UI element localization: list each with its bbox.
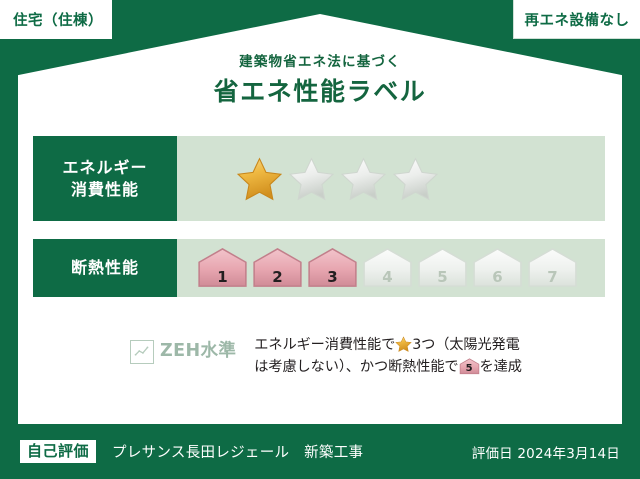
insulation-level-number: 1 (196, 270, 249, 285)
inline-house-number: 5 (459, 364, 480, 374)
insulation-performance-row: 断熱性能 1 (33, 239, 605, 297)
energy-label-line2: 消費性能 (62, 179, 147, 201)
insulation-level-chip-5: 5 (416, 247, 469, 289)
insulation-level-number: 7 (526, 270, 579, 285)
evaluation-date: 評価日 2024年3月14日 (472, 442, 620, 462)
energy-label-line1: エネルギー (62, 157, 147, 179)
inline-house-badge: 5 (459, 358, 480, 375)
insulation-performance-label: 断熱性能 (33, 239, 177, 297)
inline-star-icon (395, 336, 412, 352)
insulation-level-chip-3: 3 (306, 247, 359, 289)
zeh-label: ZEH水準 (160, 343, 236, 361)
building-name: プレサンス長田レジェール 新築工事 (112, 441, 363, 462)
insulation-level-chip-4: 4 (361, 247, 414, 289)
insulation-level-number: 5 (416, 270, 469, 285)
star-icon-empty-3 (340, 156, 387, 201)
energy-performance-label: エネルギー 消費性能 (33, 136, 177, 221)
insulation-level-chip-1: 1 (196, 247, 249, 289)
footer-bar: 自己評価 プレサンス長田レジェール 新築工事 評価日 2024年3月14日 (0, 424, 640, 479)
energy-star-track (177, 136, 605, 221)
insulation-level-chip-2: 2 (251, 247, 304, 289)
zeh-chart-icon (130, 340, 154, 364)
star-icon-empty-4 (392, 156, 439, 201)
note-text-part3: を達成 (480, 359, 522, 375)
insulation-level-track: 1 2 3 (177, 239, 605, 297)
insulation-level-number: 3 (306, 270, 359, 285)
insulation-level-number: 6 (471, 270, 524, 285)
star-icon-empty-2 (288, 156, 335, 201)
self-evaluation-badge: 自己評価 (20, 440, 96, 464)
zeh-note-text: エネルギー消費性能で3つ（太陽光発電は考慮しない）、かつ断熱性能で5を達成 (236, 334, 605, 378)
note-star-count: 3つ（太陽光発電 (412, 337, 520, 353)
note-text-part1: エネルギー消費性能で (254, 337, 395, 353)
title-subtitle: 建築物省エネ法に基づく (0, 56, 640, 70)
badge-house-type: 住宅（住棟） (0, 0, 112, 39)
insulation-level-number: 4 (361, 270, 414, 285)
zeh-note-block: ZEH水準 エネルギー消費性能で3つ（太陽光発電は考慮しない）、かつ断熱性能で5… (33, 334, 605, 378)
energy-performance-label: 住宅（住棟） 再エネ設備なし 建築物省エネ法に基づく 省エネ性能ラベル エネルギ… (0, 0, 640, 479)
page-title: 省エネ性能ラベル (0, 79, 640, 104)
title-block: 建築物省エネ法に基づく 省エネ性能ラベル (0, 56, 640, 104)
zeh-badge: ZEH水準 (33, 334, 236, 364)
insulation-level-chip-7: 7 (526, 247, 579, 289)
insulation-level-number: 2 (251, 270, 304, 285)
energy-performance-row: エネルギー 消費性能 (33, 136, 605, 221)
note-text-part2: は考慮しない）、かつ断熱性能で (254, 359, 458, 375)
insulation-level-chip-6: 6 (471, 247, 524, 289)
badge-renewable-equipment: 再エネ設備なし (513, 0, 640, 39)
star-icon-filled-1 (236, 156, 283, 201)
